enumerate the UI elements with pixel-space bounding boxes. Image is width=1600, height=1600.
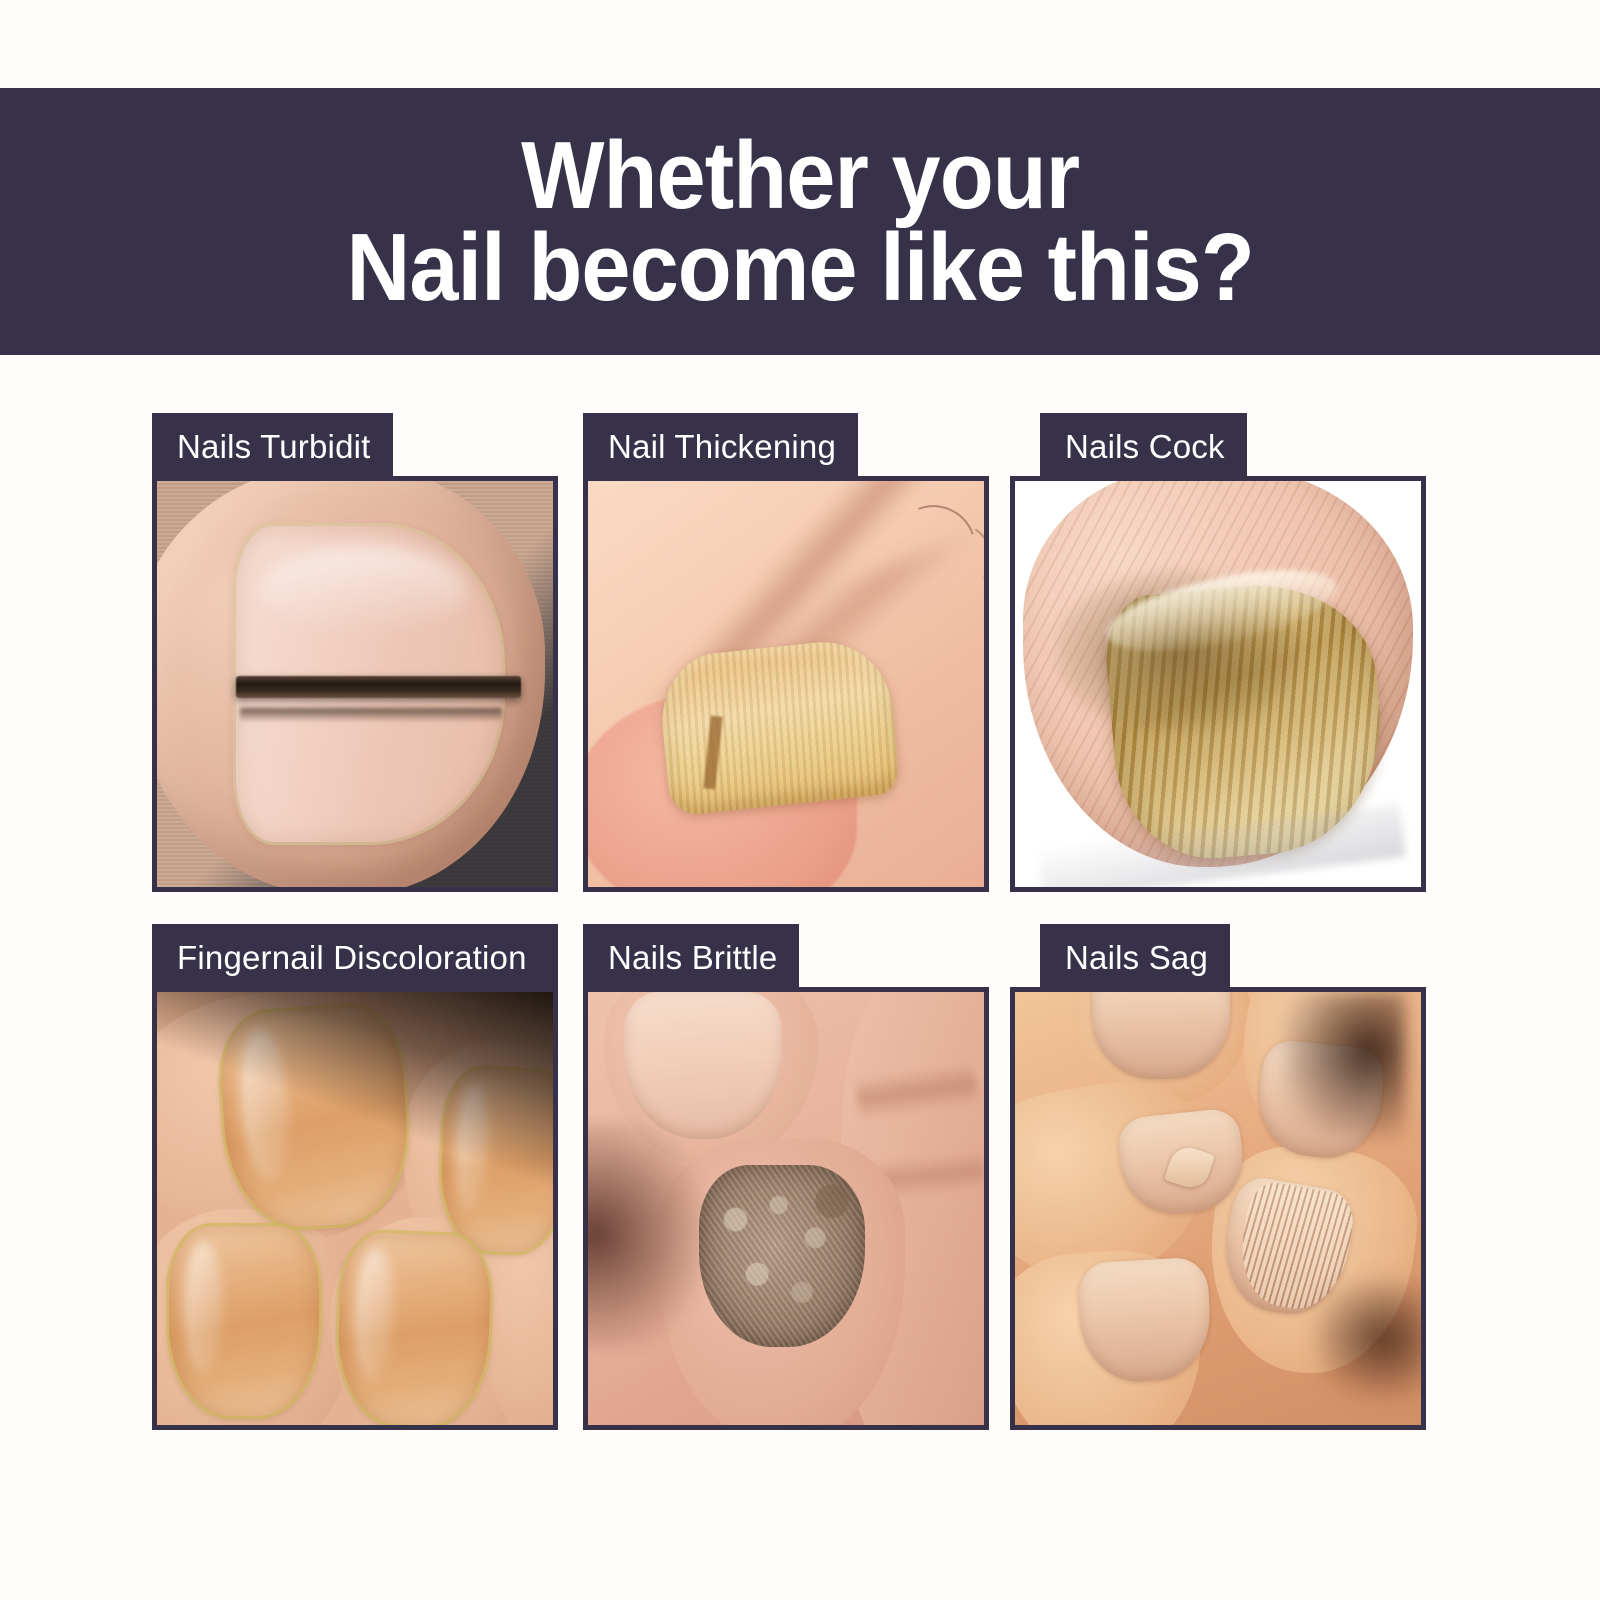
- condition-photo-frame: [583, 476, 989, 892]
- condition-photo-frame: [152, 987, 558, 1430]
- card-label: Nails Brittle: [583, 924, 799, 990]
- condition-photo-frame: [1010, 987, 1426, 1430]
- card-label: Fingernail Discoloration: [152, 924, 558, 990]
- title-line-2: Nail become like this?: [346, 222, 1253, 313]
- header-banner: Whether your Nail become like this?: [0, 88, 1600, 355]
- card-label: Nails Sag: [1040, 924, 1230, 990]
- title-line-1: Whether your: [346, 130, 1253, 221]
- photo-dark-background: [1315, 1278, 1421, 1399]
- brittle-nail: [699, 1165, 865, 1347]
- photo-nail-thickening: [588, 481, 984, 887]
- photo-nails-cock: [1015, 481, 1421, 887]
- photo-dark-background: [157, 992, 553, 1425]
- photo-nails-turbidit: [157, 481, 553, 887]
- condition-card-nails-sag[interactable]: Nails Sag: [1010, 924, 1426, 1430]
- condition-card-nails-cock[interactable]: Nails Cock: [1010, 413, 1426, 892]
- nail-dark-band: [236, 676, 521, 698]
- card-label: Nails Turbidit: [152, 413, 393, 479]
- condition-card-nail-thickening[interactable]: Nail Thickening: [583, 413, 989, 892]
- condition-grid: Nails Turbidit Nail Thickening: [152, 413, 1448, 1429]
- nail-dark-band-soft: [240, 708, 501, 720]
- photo-nails-sag: [1015, 992, 1421, 1425]
- condition-photo-frame: [583, 987, 989, 1430]
- nail-ridges: [656, 636, 901, 817]
- condition-card-fingernail-discoloration[interactable]: Fingernail Discoloration: [152, 924, 558, 1430]
- thickened-nail: [656, 636, 901, 817]
- photo-nails-brittle: [588, 992, 984, 1425]
- condition-photo-frame: [152, 476, 558, 892]
- photo-fingernail-discoloration: [157, 992, 553, 1425]
- card-label: Nails Cock: [1040, 413, 1247, 479]
- condition-card-nails-brittle[interactable]: Nails Brittle: [583, 924, 989, 1430]
- photo-dark-background: [588, 1122, 703, 1347]
- condition-photo-frame: [1010, 476, 1426, 892]
- nail-highlight: [260, 546, 466, 635]
- card-label: Nail Thickening: [583, 413, 858, 479]
- condition-card-nails-turbidit[interactable]: Nails Turbidit: [152, 413, 558, 892]
- photo-dark-background: [1283, 992, 1405, 1139]
- page-title: Whether your Nail become like this?: [346, 130, 1253, 312]
- nail-crumble-texture: [699, 1165, 865, 1347]
